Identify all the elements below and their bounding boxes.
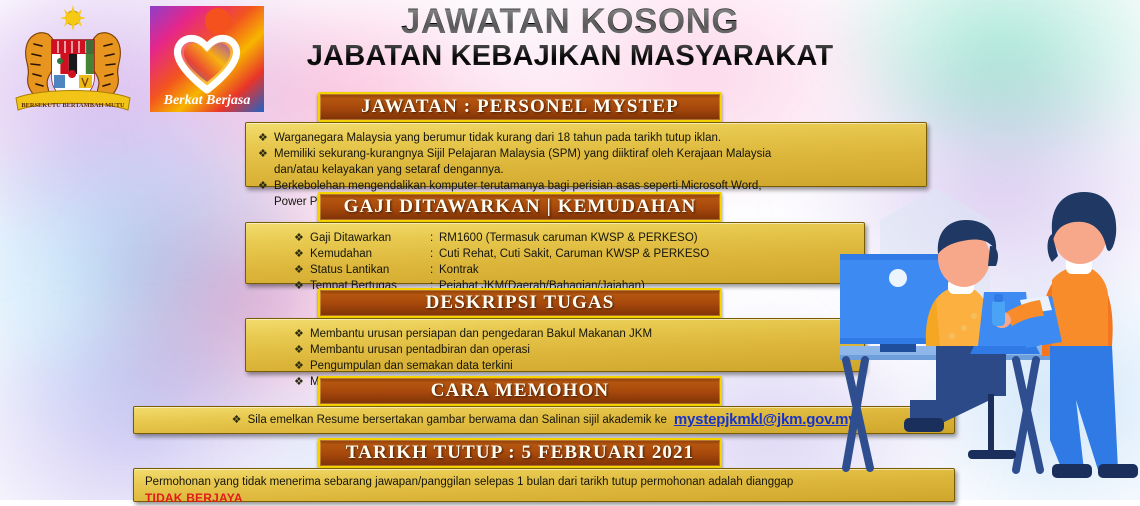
title-sub: JABATAN KEBAJIKAN MASYARAKAT xyxy=(270,41,870,72)
banner-cara-memohon: CARA MEMOHON xyxy=(318,376,722,406)
crest-motto: BERSEKUTU BERTAMBAH MUTU xyxy=(21,102,125,109)
diamond-bullet-icon: ❖ xyxy=(232,412,248,428)
table-row: ❖ Gaji Ditawarkan : RM1600 (Termasuk car… xyxy=(294,230,854,246)
jkm-logo-text: Berkat Berjasa xyxy=(163,93,251,108)
diamond-bullet-icon: ❖ xyxy=(294,230,310,246)
title-main: JAWATAN KOSONG xyxy=(270,4,870,40)
diamond-bullet-icon: ❖ xyxy=(294,246,310,262)
diamond-bullet-icon: ❖ xyxy=(294,278,310,294)
banner-cara-memohon-label: CARA MEMOHON xyxy=(431,380,609,402)
diamond-bullet-icon: ❖ xyxy=(258,130,274,146)
list-item: ❖ Warganegara Malaysia yang berumur tida… xyxy=(258,130,916,146)
logo-row: BERSEKUTU BERTAMBAH MUTU Berkat Berj xyxy=(0,0,290,118)
panel-tarikh-tutup-note: Permohonan yang tidak menerima sebarang … xyxy=(133,468,955,502)
panel-gaji: ❖ Gaji Ditawarkan : RM1600 (Termasuk car… xyxy=(245,222,865,284)
two-office-workers-illustration xyxy=(840,150,1140,500)
diamond-bullet-icon: ❖ xyxy=(294,374,310,390)
banner-tarikh-tutup-label: TARIKH TUTUP : 5 FEBRUARI 2021 xyxy=(346,442,694,464)
list-item: ❖ Memiliki sekurang-kurangnya Sijil Pela… xyxy=(258,146,916,162)
diamond-bullet-icon: ❖ xyxy=(258,178,274,194)
panel-deskripsi: ❖ Membantu urusan persiapan dan pengedar… xyxy=(245,318,865,372)
banner-deskripsi: DESKRIPSI TUGAS xyxy=(318,288,722,318)
diamond-bullet-icon: ❖ xyxy=(294,358,310,374)
status-badge-tidak-berjaya: TIDAK BERJAYA xyxy=(145,490,944,506)
table-row: ❖ Status Lantikan : Kontrak xyxy=(294,262,854,278)
banner-deskripsi-label: DESKRIPSI TUGAS xyxy=(426,292,615,314)
diamond-bullet-icon: ❖ xyxy=(294,342,310,358)
panel-jawatan: ❖ Warganegara Malaysia yang berumur tida… xyxy=(245,122,927,187)
jata-negara-crest-icon: BERSEKUTU BERTAMBAH MUTU xyxy=(8,4,138,116)
diamond-bullet-icon: ❖ xyxy=(294,326,310,342)
banner-jawatan: JAWATAN : PERSONEL MYSTEP xyxy=(318,92,722,122)
diamond-bullet-icon: ❖ xyxy=(294,262,310,278)
list-item: ❖ Membantu urusan persiapan dan pengedar… xyxy=(294,326,854,342)
list-item-continuation: dan/atau kelayakan yang setaraf denganny… xyxy=(258,162,916,178)
page-title: JAWATAN KOSONG JABATAN KEBAJIKAN MASYARA… xyxy=(270,4,870,72)
banner-tarikh-tutup: TARIKH TUTUP : 5 FEBRUARI 2021 xyxy=(318,438,722,468)
application-email-link[interactable]: mystepjkmkl@jkm.gov.my xyxy=(674,411,857,429)
jkm-berkat-berjasa-logo: Berkat Berjasa xyxy=(148,4,266,114)
closing-note-text: Permohonan yang tidak menerima sebarang … xyxy=(145,474,944,490)
list-item: ❖ Pengumpulan dan semakan data terkini xyxy=(294,358,854,374)
banner-gaji: GAJI DITAWARKAN | KEMUDAHAN xyxy=(318,192,722,222)
list-item: ❖ Membantu urusan pentadbiran dan operas… xyxy=(294,342,854,358)
panel-cara-memohon: ❖ Sila emelkan Resume bersertakan gambar… xyxy=(133,406,955,434)
banner-jawatan-label: JAWATAN : PERSONEL MYSTEP xyxy=(361,96,679,118)
table-row: ❖ Kemudahan : Cuti Rehat, Cuti Sakit, Ca… xyxy=(294,246,854,262)
cara-memohon-text: Sila emelkan Resume bersertakan gambar b… xyxy=(248,411,667,429)
banner-gaji-label: GAJI DITAWARKAN | KEMUDAHAN xyxy=(344,196,697,218)
diamond-bullet-icon: ❖ xyxy=(258,146,274,162)
